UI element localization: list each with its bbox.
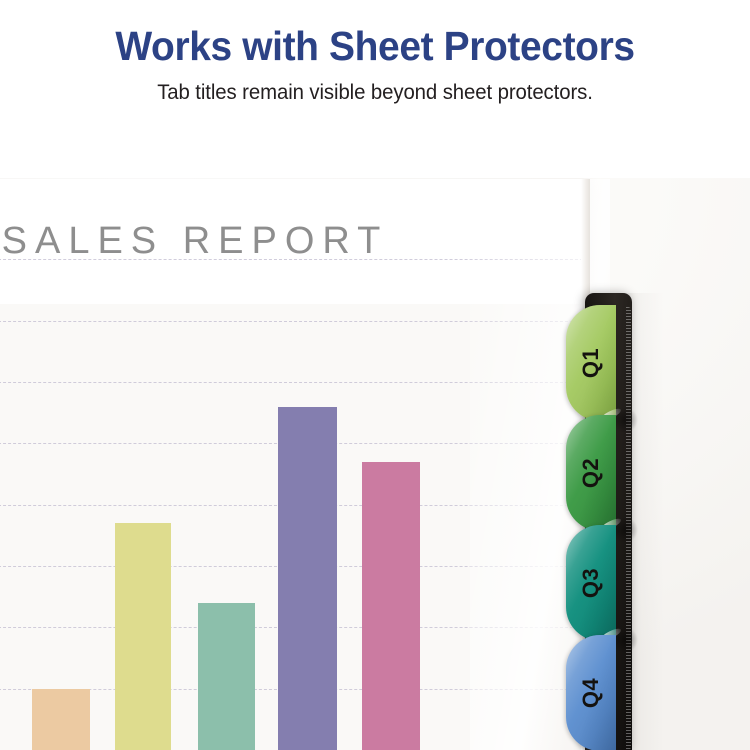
gridline: [0, 321, 588, 322]
binder-tab-q4[interactable]: Q4: [566, 635, 616, 750]
binder-tab-label: Q1: [579, 348, 603, 378]
page-headline: Works with Sheet Protectors: [19, 22, 732, 70]
report-title-card: SALES REPORT: [0, 179, 588, 305]
binder-tab-label: Q3: [579, 568, 603, 598]
page-subheadline: Tab titles remain visible beyond sheet p…: [11, 79, 739, 107]
binder-tab-q1[interactable]: Q1: [566, 305, 616, 421]
chart-gridline-row: 0,000: [0, 259, 588, 260]
marketing-header: Works with Sheet Protectors Tab titles r…: [0, 0, 750, 178]
binder-tab-label: Q2: [579, 458, 603, 488]
binder-tab-q2[interactable]: Q2: [566, 415, 616, 531]
bar-2: [115, 523, 171, 750]
gridline: [0, 259, 588, 260]
bar-5: [362, 462, 420, 750]
chart-gridline-row: 0,000: [0, 321, 588, 322]
bar-3: [198, 603, 255, 750]
report-sheet: SALES REPORT 0,0000,0000,0000,0000,0000,…: [0, 179, 588, 750]
chart-gridline-row: 0,000: [0, 382, 588, 383]
binder-tab-q3[interactable]: Q3: [566, 525, 616, 641]
sales-bar-chart: 0,0000,0000,0000,0000,0000,0000,0000,000: [0, 304, 588, 750]
bar-1: [32, 689, 90, 750]
binder-tab-label: Q4: [579, 678, 603, 708]
report-title: SALES REPORT: [0, 219, 430, 263]
binder-tabs: Q1Q2Q3Q4: [566, 293, 632, 750]
bar-4: [278, 407, 337, 750]
gridline: [0, 382, 588, 383]
